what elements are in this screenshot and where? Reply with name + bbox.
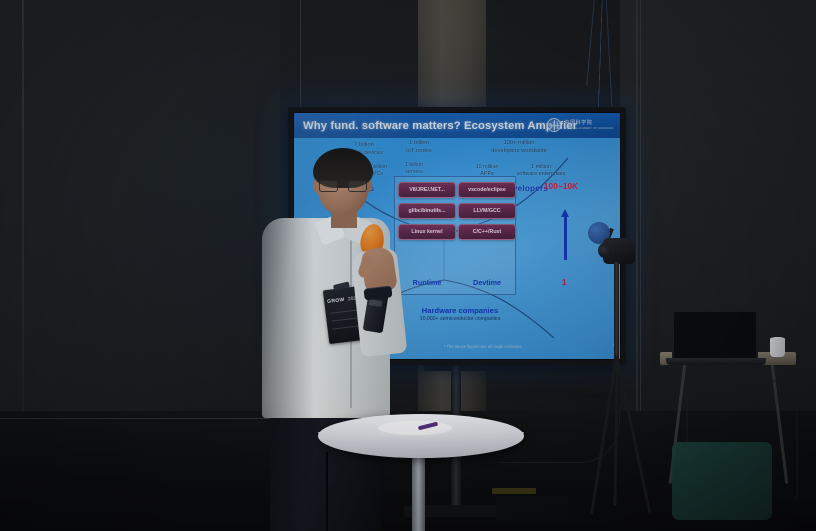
stat-iot-nodes: 1 trillion IoT nodes	[390, 140, 448, 155]
speaker-leg-split	[326, 452, 328, 531]
slide-title: Why fund. software matters? Ecosystem Am…	[303, 120, 577, 132]
badge-text-line	[333, 325, 361, 330]
table-pole	[412, 450, 425, 531]
runtime-chip: V8/JRE/.NET...	[398, 182, 456, 198]
logo-text: 中国科学院 CHINESE ACADEMY OF SCIENCES	[564, 120, 613, 130]
eyeglasses	[319, 180, 368, 193]
green-equipment-case	[672, 442, 772, 520]
runtime-caption: Runtime	[398, 278, 456, 287]
presentation-photo-scene: Why fund. software matters? Ecosystem Am…	[0, 0, 816, 531]
laptop-lid	[672, 310, 758, 360]
university-logo: 中国科学院 CHINESE ACADEMY OF SCIENCES	[547, 118, 613, 132]
glasses-bridge	[338, 185, 348, 186]
badge-logo-text: GROW	[327, 296, 345, 304]
glasses-lens-left	[319, 180, 338, 192]
badge-text-line	[331, 309, 359, 314]
hardware-companies-subtitle: 10,000+ semiconductor companies	[390, 316, 530, 322]
devtime-chip: C/C++/Rust	[458, 224, 516, 240]
scale-top-value: 100~10K	[544, 182, 578, 191]
stat-software-enterprises: 1 million software enterprises	[508, 164, 574, 178]
floor-tape-strip	[492, 488, 536, 494]
floor-baseboard-left	[0, 418, 300, 419]
scale-bottom-value: 1	[562, 278, 566, 287]
arrow-shaft	[564, 216, 567, 260]
stat-developers-worldwide: 100+ million developers worldwide	[476, 140, 562, 155]
runtime-column: V8/JRE/.NET... glibc/binutils... Linux k…	[398, 182, 456, 245]
globe-logo-icon	[547, 118, 561, 132]
hardware-companies-title: Hardware companies	[390, 306, 530, 315]
devtime-chip: LLVM/GCC	[458, 203, 516, 219]
slide-title-bar: Why fund. software matters? Ecosystem Am…	[294, 113, 620, 138]
speaker-shirt-shadow	[262, 218, 314, 418]
devtime-chip: vscode/eclipse	[458, 182, 516, 198]
stat-servers: 1 billion servers	[394, 162, 434, 176]
slide-footnote: * The above figures are all rough estima…	[444, 344, 522, 349]
logo-secondary-text: CHINESE ACADEMY OF SCIENCES	[564, 127, 613, 130]
door-frame-edge	[22, 0, 24, 418]
paper-cup	[770, 338, 785, 357]
papers-on-table	[378, 421, 452, 435]
camera-lens	[598, 243, 611, 258]
floor-equipment-box	[496, 496, 568, 520]
tripod-center-pole	[614, 262, 619, 362]
wall-panel-edge	[636, 0, 638, 430]
badge-text-line	[332, 317, 360, 322]
devtime-caption: Devtime	[458, 278, 516, 287]
runtime-chip: Linux kernel	[398, 224, 456, 240]
glasses-lens-right	[348, 180, 367, 192]
devtime-column: vscode/eclipse LLVM/GCC C/C++/Rust	[458, 182, 516, 245]
runtime-chip: glibc/binutils...	[398, 203, 456, 219]
laptop-base	[666, 358, 766, 365]
